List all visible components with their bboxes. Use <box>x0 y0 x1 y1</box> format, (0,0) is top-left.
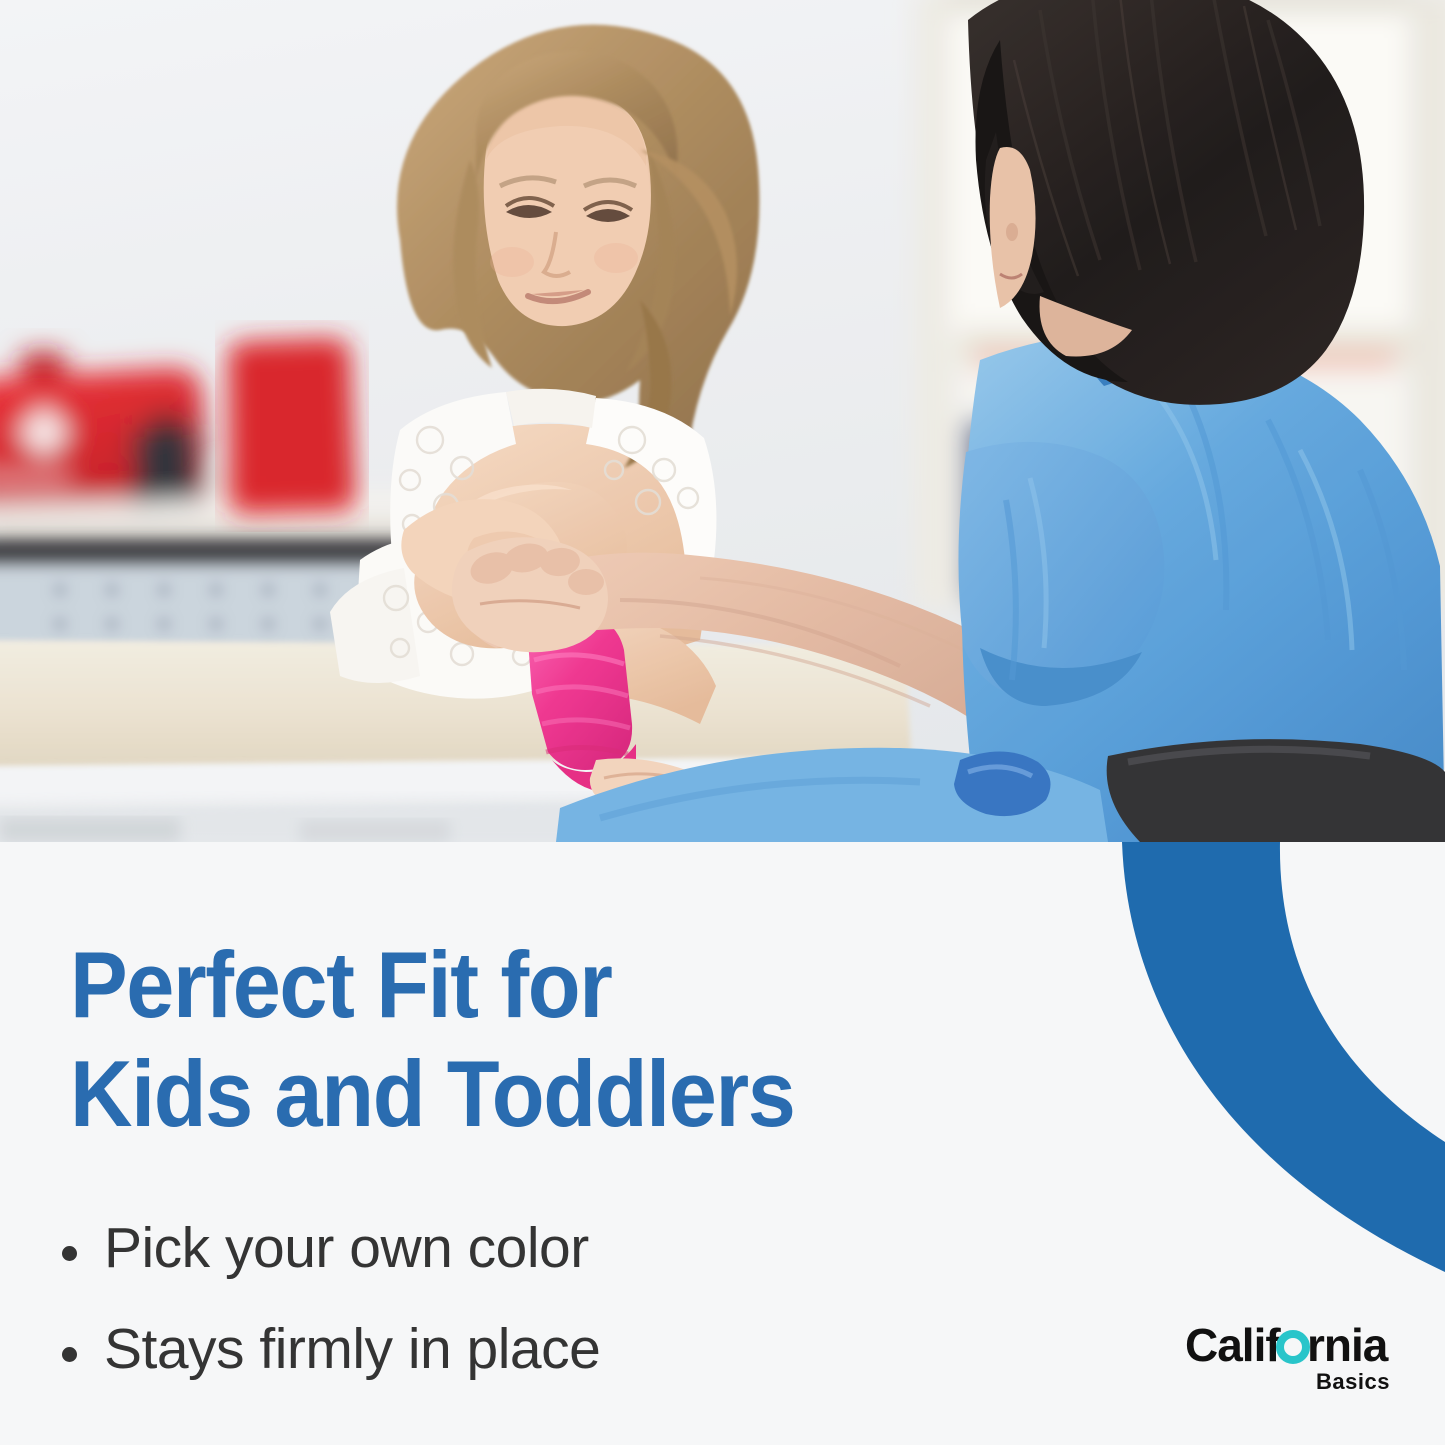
bullet-dot-icon <box>62 1347 77 1362</box>
hero-photo <box>0 0 1445 842</box>
logo-wordmark-before: Calif <box>1185 1319 1281 1371</box>
feature-bullet-list: Pick your own color Stays firmly in plac… <box>62 1220 600 1422</box>
bullet-text: Pick your own color <box>104 1220 589 1277</box>
logo-teal-o-icon <box>1280 1334 1306 1360</box>
product-infographic-card: Perfect Fit for Kids and Toddlers Pick y… <box>0 0 1445 1445</box>
bullet-dot-icon <box>62 1246 77 1261</box>
headline-line-2: Kids and Toddlers <box>70 1039 795 1148</box>
list-item: Pick your own color <box>62 1220 600 1277</box>
list-item: Stays firmly in place <box>62 1321 600 1378</box>
bullet-text: Stays firmly in place <box>104 1321 600 1378</box>
headline-line-1: Perfect Fit for <box>70 932 612 1037</box>
logo-wordmark-after: rnia <box>1307 1319 1389 1371</box>
brand-logo: Calif rnia Basics <box>1185 1318 1400 1398</box>
logo-tagline: Basics <box>1316 1369 1390 1394</box>
page-title: Perfect Fit for Kids and Toddlers <box>70 930 795 1148</box>
